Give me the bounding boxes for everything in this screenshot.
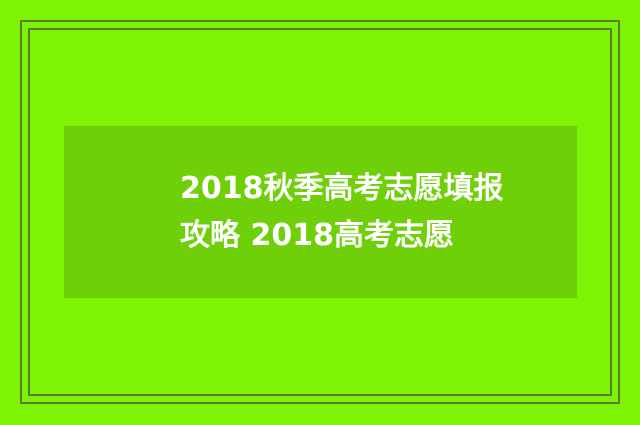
poster-canvas: 2018秋季高考志愿填报 攻略 2018高考志愿 bbox=[0, 0, 640, 425]
poster-title: 2018秋季高考志愿填报 攻略 2018高考志愿 bbox=[180, 165, 577, 259]
title-line-1: 2018秋季高考志愿填报 bbox=[180, 165, 577, 212]
title-line-2: 攻略 2018高考志愿 bbox=[180, 212, 577, 259]
title-panel: 2018秋季高考志愿填报 攻略 2018高考志愿 bbox=[64, 126, 577, 298]
